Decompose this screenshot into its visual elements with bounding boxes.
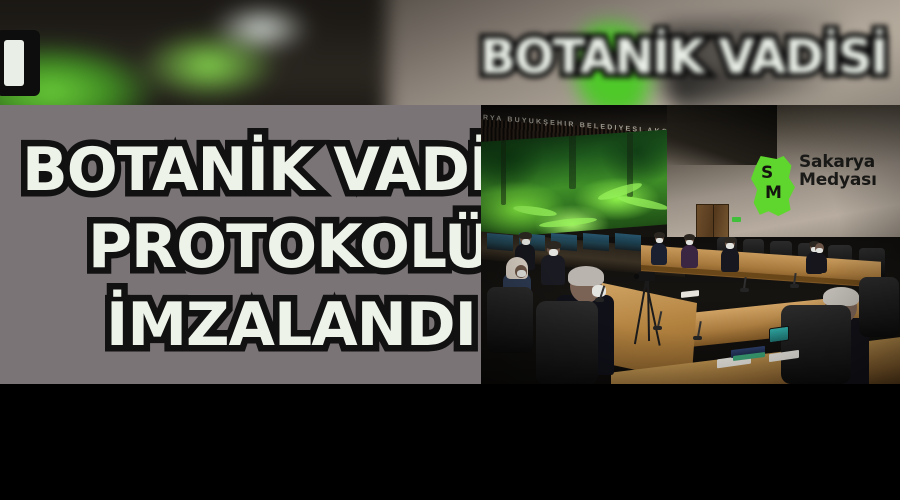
face-mask <box>549 249 558 256</box>
microphone-base-1 <box>595 298 604 302</box>
chair-foreground-left <box>487 287 533 353</box>
operator-monitor-4 <box>583 233 609 251</box>
fern-frond-3 <box>513 204 558 218</box>
logo-letter-m: M <box>765 185 782 202</box>
tree-trunk-2 <box>569 131 576 189</box>
news-thumbnail: BOTANİK VADİSİ BOTANİK VADİSİ PROTOKOLÜ … <box>0 0 900 500</box>
operator-monitor-1 <box>487 233 513 251</box>
top-blurred-banner: BOTANİK VADİSİ <box>0 0 900 105</box>
video-camera <box>638 272 655 281</box>
led-video-wall <box>481 129 677 239</box>
meeting-room-photo: RYA BÜYÜKŞEHİR BELEDİYESİ AKOM S M Sakar… <box>481 105 900 384</box>
headline-line-3: İMZALANDI <box>106 295 476 355</box>
banner-left-letter-edge <box>0 30 40 96</box>
exit-sign <box>732 217 741 222</box>
logo-letter-s: S <box>761 165 773 182</box>
chair-foreground-center <box>536 301 598 384</box>
chair-foreground-right <box>781 305 851 384</box>
face-mask <box>517 270 526 277</box>
participant-hair <box>546 241 561 249</box>
watermark-text: Sakarya Medyası <box>799 154 895 190</box>
face-mask <box>816 248 823 253</box>
banner-room-blur <box>0 0 440 105</box>
headline-line-1: BOTANİK VADİSİ <box>22 140 554 200</box>
microphone-base-2 <box>653 326 662 330</box>
microphone-base-5 <box>790 284 799 288</box>
face-mask <box>656 238 663 243</box>
headline-panel: BOTANİK VADİSİ PROTOKOLÜ İMZALANDI <box>0 105 481 384</box>
fern-frond-4 <box>539 216 597 229</box>
face-mask <box>686 240 693 245</box>
participant-hair <box>823 287 859 306</box>
watermark-line-2: Medyası <box>799 172 895 190</box>
microphone-base-4 <box>740 288 749 292</box>
microphone-base-3 <box>693 336 702 340</box>
participant-body <box>541 255 565 285</box>
fern-frond-2 <box>617 194 670 213</box>
participant-body <box>811 253 827 273</box>
banner-headline-blur: BOTANİK VADİSİ <box>480 26 900 88</box>
participant-body <box>651 243 667 265</box>
tablet-device <box>769 326 789 344</box>
face-mask <box>522 239 530 245</box>
face-mask <box>726 243 734 249</box>
participant-body <box>681 245 698 268</box>
operator-monitor-5 <box>615 233 641 251</box>
tree-trunk-1 <box>501 135 506 205</box>
headline-line-2: PROTOKOLÜ <box>88 217 492 277</box>
chair-right-1 <box>859 277 899 337</box>
watermark-logo: S M Sakarya Medyası <box>747 140 897 235</box>
participant-hair <box>519 232 532 239</box>
bottom-black-band <box>0 384 900 500</box>
banner-headline-text: BOTANİK VADİSİ <box>480 30 887 85</box>
participant-body <box>721 248 739 272</box>
participant-hair <box>568 266 604 286</box>
